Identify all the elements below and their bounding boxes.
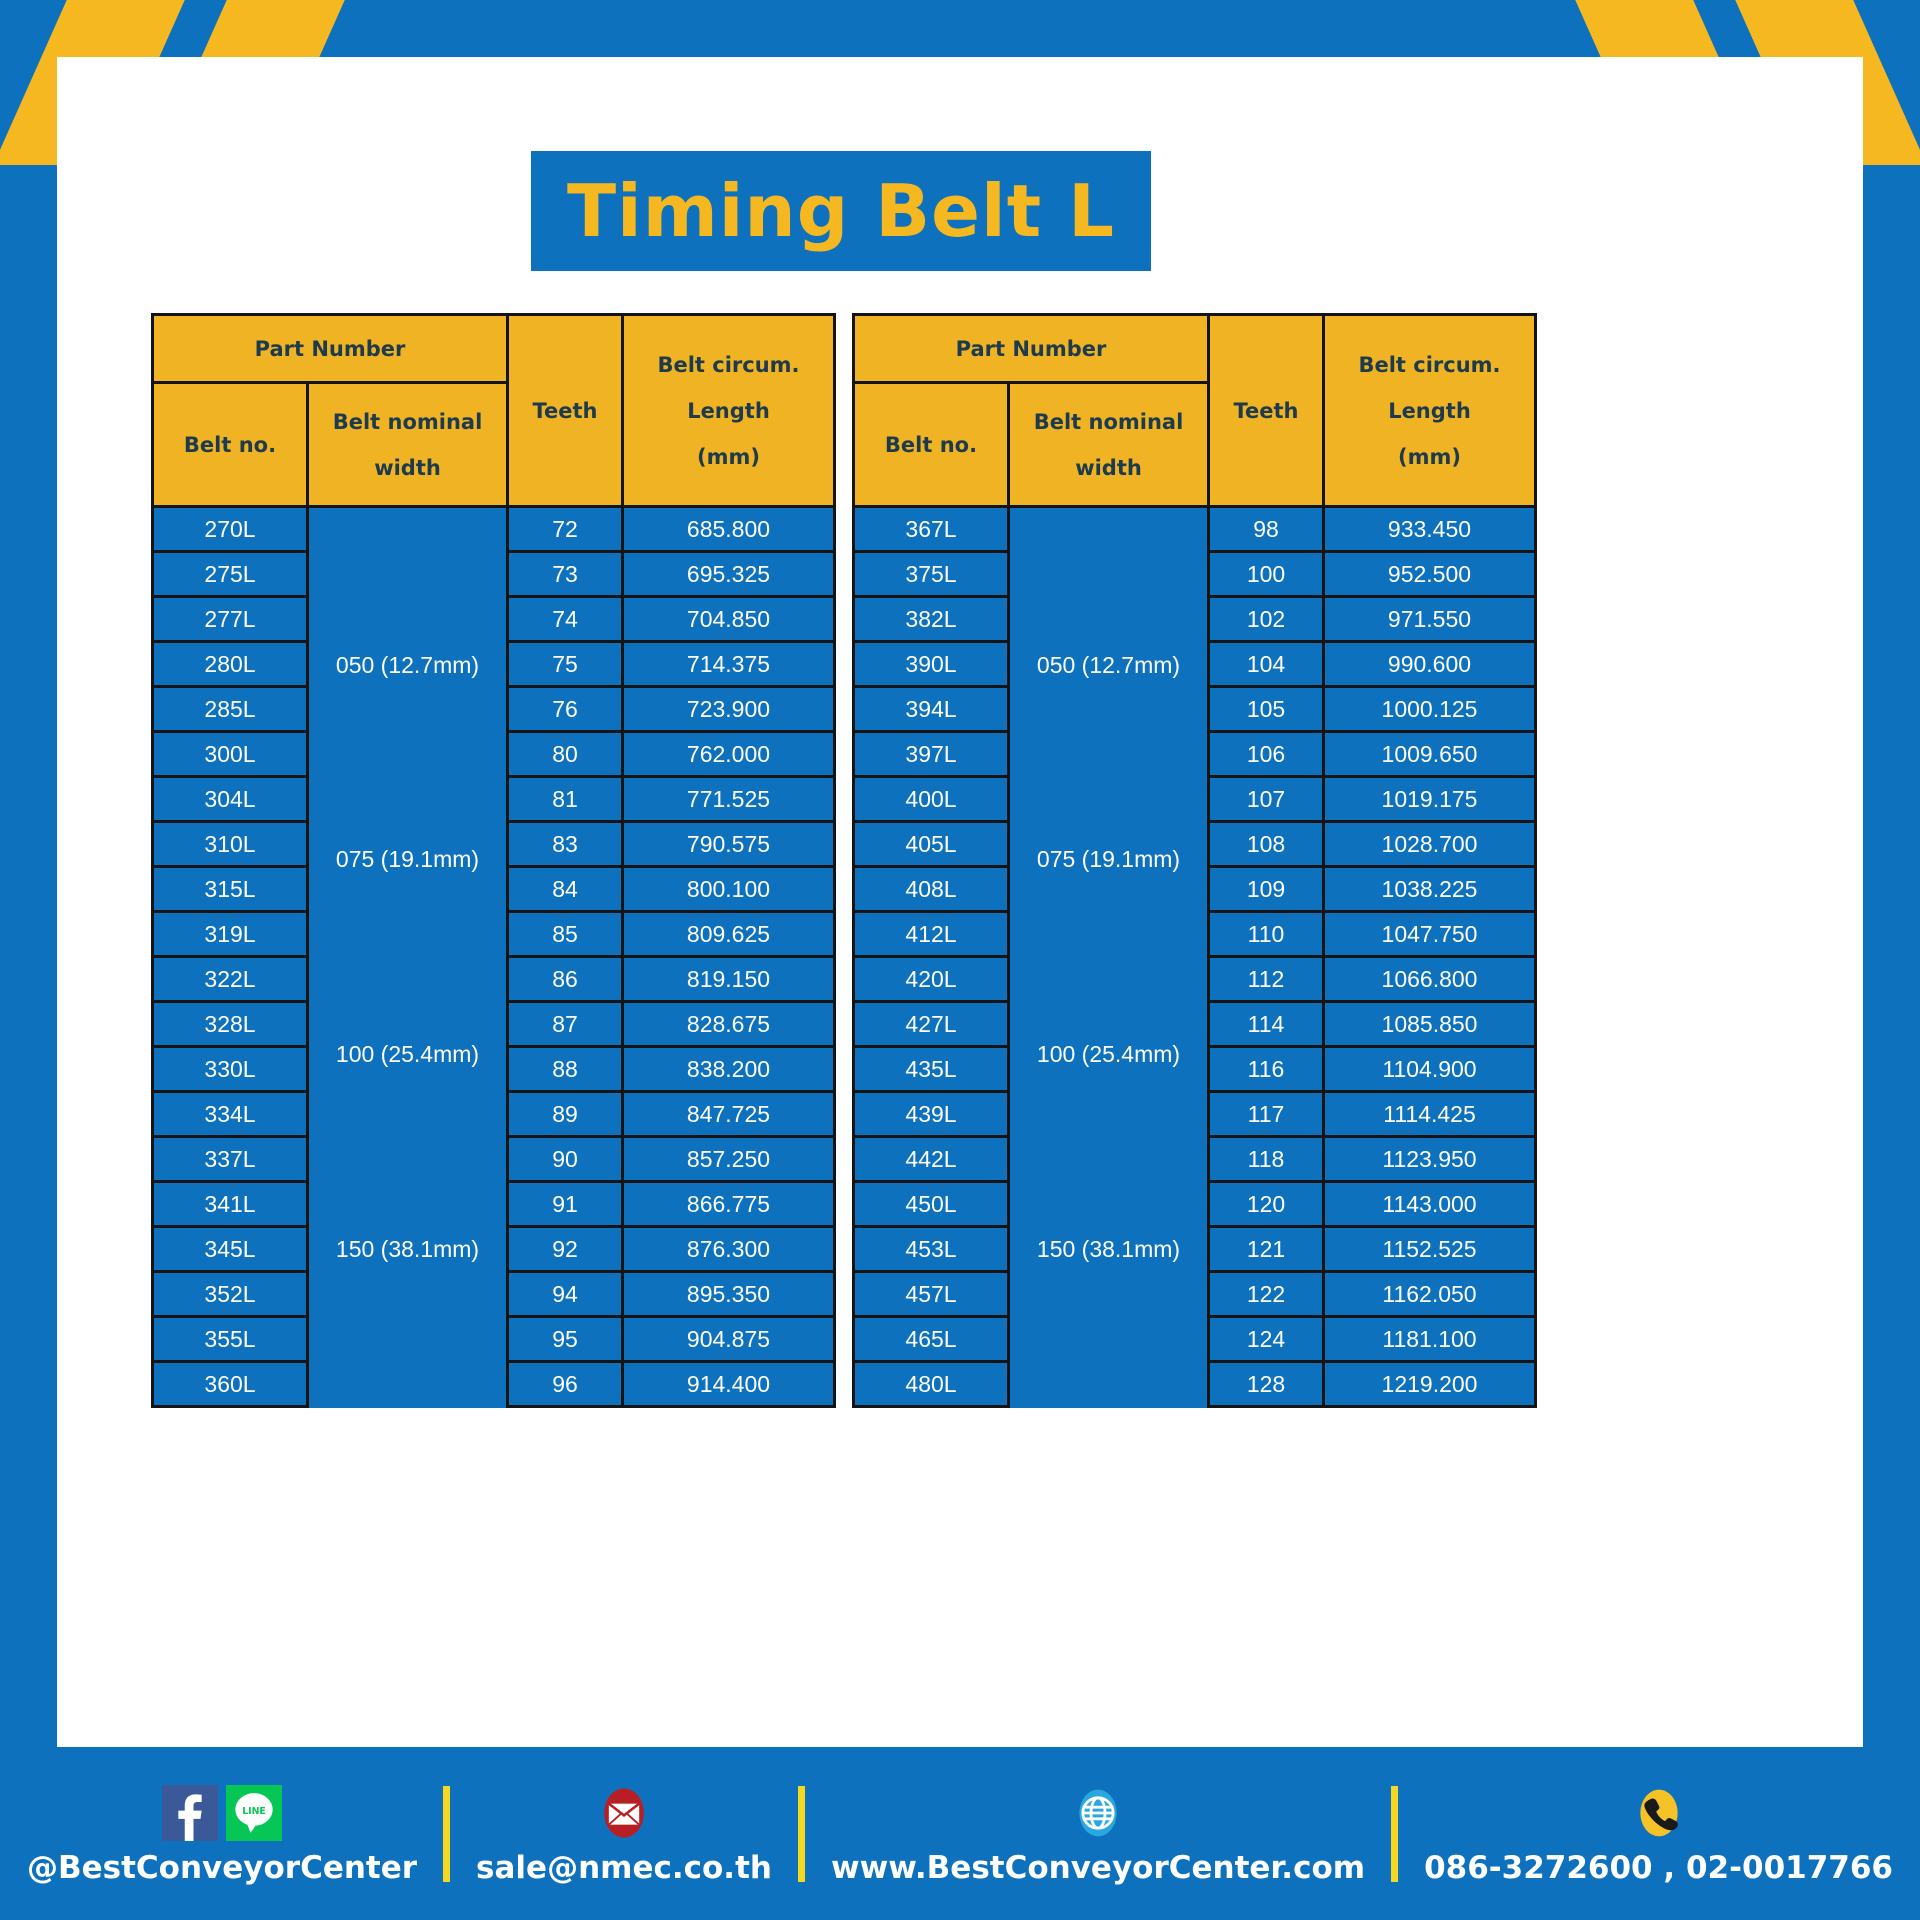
cell-length: 1028.700 <box>1324 822 1536 867</box>
cell-teeth: 76 <box>508 687 623 732</box>
cell-teeth: 96 <box>508 1362 623 1407</box>
header-belt-no-right: Belt no. <box>854 383 1009 507</box>
cell-length: 904.875 <box>623 1317 835 1362</box>
header-belt-circum-line2-left: Length <box>626 399 831 423</box>
cell-belt-no: 435L <box>854 1047 1009 1092</box>
cell-length: 1181.100 <box>1324 1317 1536 1362</box>
cell-belt-no: 412L <box>854 912 1009 957</box>
cell-belt-no: 405L <box>854 822 1009 867</box>
cell-length: 771.525 <box>623 777 835 822</box>
cell-belt-no: 341L <box>153 1182 308 1227</box>
cell-teeth: 102 <box>1209 597 1324 642</box>
cell-belt-no: 300L <box>153 732 308 777</box>
cell-length: 1152.525 <box>1324 1227 1536 1272</box>
header-width-left: width <box>311 456 504 480</box>
table-row: 367L050 (12.7mm)075 (19.1mm)100 (25.4mm)… <box>854 507 1536 552</box>
phone-icon[interactable] <box>1631 1785 1687 1841</box>
header-belt-circum-line3-left: (mm) <box>626 445 831 469</box>
width-option-3: 150 (38.1mm) <box>1037 1238 1180 1261</box>
header-belt-nominal-left: Belt nominal <box>333 410 483 434</box>
cell-length: 838.200 <box>623 1047 835 1092</box>
cell-length: 819.150 <box>623 957 835 1002</box>
cell-belt-no: 319L <box>153 912 308 957</box>
cell-length: 1009.650 <box>1324 732 1536 777</box>
cell-length: 1085.850 <box>1324 1002 1536 1047</box>
cell-length: 1019.175 <box>1324 777 1536 822</box>
cell-length: 952.500 <box>1324 552 1536 597</box>
belt-table-left: Part Number Teeth Belt circum. Length (m… <box>151 313 836 1408</box>
cell-belt-no: 450L <box>854 1182 1009 1227</box>
cell-length: 714.375 <box>623 642 835 687</box>
cell-teeth: 108 <box>1209 822 1324 867</box>
cell-belt-no: 310L <box>153 822 308 867</box>
cell-belt-no: 277L <box>153 597 308 642</box>
table-row: 270L050 (12.7mm)075 (19.1mm)100 (25.4mm)… <box>153 507 835 552</box>
width-option-3: 150 (38.1mm) <box>336 1238 479 1261</box>
footer-social-icons: LINE <box>162 1782 282 1844</box>
content-card: Timing Belt L Part Number Teeth Belt cir… <box>57 57 1863 1747</box>
cell-teeth: 91 <box>508 1182 623 1227</box>
header-belt-circum-right: Belt circum. Length (mm) <box>1324 315 1536 507</box>
facebook-icon[interactable] <box>162 1785 218 1841</box>
footer-divider-2 <box>798 1786 805 1882</box>
cell-length: 866.775 <box>623 1182 835 1227</box>
globe-icon[interactable] <box>1070 1785 1126 1841</box>
cell-belt-no: 285L <box>153 687 308 732</box>
cell-belt-no: 465L <box>854 1317 1009 1362</box>
header-belt-circum-line1-left: Belt circum. <box>657 353 799 377</box>
header-part-number-right: Part Number <box>854 315 1209 383</box>
cell-teeth: 87 <box>508 1002 623 1047</box>
cell-length: 790.575 <box>623 822 835 867</box>
table-body-left: 270L050 (12.7mm)075 (19.1mm)100 (25.4mm)… <box>153 507 835 1407</box>
footer-email-icons <box>596 1782 652 1844</box>
footer-divider-1 <box>443 1786 450 1882</box>
footer-email[interactable]: sale@nmec.co.th <box>450 1782 798 1886</box>
cell-length: 914.400 <box>623 1362 835 1407</box>
width-option-2: 100 (25.4mm) <box>336 1043 479 1066</box>
cell-length: 685.800 <box>623 507 835 552</box>
cell-belt-no: 390L <box>854 642 1009 687</box>
page-title-text: Timing Belt L <box>567 175 1115 247</box>
cell-belt-no: 352L <box>153 1272 308 1317</box>
cell-teeth: 121 <box>1209 1227 1324 1272</box>
cell-teeth: 81 <box>508 777 623 822</box>
footer-website[interactable]: www.BestConveyorCenter.com <box>805 1782 1391 1886</box>
header-belt-nominal-width-right: Belt nominal width <box>1009 383 1209 507</box>
cell-teeth: 98 <box>1209 507 1324 552</box>
cell-length: 933.450 <box>1324 507 1536 552</box>
cell-length: 1162.050 <box>1324 1272 1536 1317</box>
cell-length: 1123.950 <box>1324 1137 1536 1182</box>
width-option-0: 050 (12.7mm) <box>336 654 479 677</box>
cell-belt-no: 375L <box>854 552 1009 597</box>
tables-container: Part Number Teeth Belt circum. Length (m… <box>151 313 1531 1408</box>
cell-belt-no: 337L <box>153 1137 308 1182</box>
cell-length: 895.350 <box>623 1272 835 1317</box>
table-head-right: Part Number Teeth Belt circum. Length (m… <box>854 315 1536 507</box>
cell-belt-no: 400L <box>854 777 1009 822</box>
poster-root: Timing Belt L Part Number Teeth Belt cir… <box>0 0 1920 1920</box>
cell-teeth: 89 <box>508 1092 623 1137</box>
header-belt-circum-line3-right: (mm) <box>1327 445 1532 469</box>
header-width-right: width <box>1012 456 1205 480</box>
cell-teeth: 104 <box>1209 642 1324 687</box>
cell-teeth: 92 <box>508 1227 623 1272</box>
cell-teeth: 128 <box>1209 1362 1324 1407</box>
cell-belt-no: 345L <box>153 1227 308 1272</box>
cell-length: 1038.225 <box>1324 867 1536 912</box>
cell-belt-no: 280L <box>153 642 308 687</box>
footer-website-icons <box>1070 1782 1126 1844</box>
cell-teeth: 90 <box>508 1137 623 1182</box>
cell-belt-nominal-width: 050 (12.7mm)075 (19.1mm)100 (25.4mm)150 … <box>308 507 508 1407</box>
width-option-1: 075 (19.1mm) <box>1037 848 1180 871</box>
cell-teeth: 74 <box>508 597 623 642</box>
cell-length: 1000.125 <box>1324 687 1536 732</box>
email-icon[interactable] <box>596 1785 652 1841</box>
cell-teeth: 105 <box>1209 687 1324 732</box>
cell-teeth: 83 <box>508 822 623 867</box>
footer-phone-label: 086-3272600 , 02-0017766 <box>1424 1850 1893 1886</box>
width-option-1: 075 (19.1mm) <box>336 848 479 871</box>
cell-belt-no: 394L <box>854 687 1009 732</box>
cell-belt-no: 328L <box>153 1002 308 1047</box>
footer-email-label: sale@nmec.co.th <box>476 1850 772 1886</box>
width-option-2: 100 (25.4mm) <box>1037 1043 1180 1066</box>
cell-belt-no: 330L <box>153 1047 308 1092</box>
cell-length: 800.100 <box>623 867 835 912</box>
cell-belt-no: 334L <box>153 1092 308 1137</box>
footer-social-label: @BestConveyorCenter <box>27 1850 417 1886</box>
cell-length: 847.725 <box>623 1092 835 1137</box>
width-option-0: 050 (12.7mm) <box>1037 654 1180 677</box>
cell-belt-no: 439L <box>854 1092 1009 1137</box>
cell-length: 1047.750 <box>1324 912 1536 957</box>
cell-teeth: 86 <box>508 957 623 1002</box>
header-teeth-right: Teeth <box>1209 315 1324 507</box>
cell-teeth: 122 <box>1209 1272 1324 1317</box>
header-part-number-left: Part Number <box>153 315 508 383</box>
cell-belt-no: 457L <box>854 1272 1009 1317</box>
cell-teeth: 114 <box>1209 1002 1324 1047</box>
header-teeth-left: Teeth <box>508 315 623 507</box>
header-belt-circum-left: Belt circum. Length (mm) <box>623 315 835 507</box>
cell-length: 723.900 <box>623 687 835 732</box>
cell-belt-no: 382L <box>854 597 1009 642</box>
cell-belt-no: 427L <box>854 1002 1009 1047</box>
cell-belt-no: 304L <box>153 777 308 822</box>
cell-length: 1143.000 <box>1324 1182 1536 1227</box>
belt-table-right: Part Number Teeth Belt circum. Length (m… <box>852 313 1537 1408</box>
cell-belt-no: 275L <box>153 552 308 597</box>
cell-length: 762.000 <box>623 732 835 777</box>
header-belt-circum-line1-right: Belt circum. <box>1358 353 1500 377</box>
cell-teeth: 72 <box>508 507 623 552</box>
cell-belt-no: 322L <box>153 957 308 1002</box>
cell-teeth: 116 <box>1209 1047 1324 1092</box>
table-head-left: Part Number Teeth Belt circum. Length (m… <box>153 315 835 507</box>
header-belt-nominal-right: Belt nominal <box>1034 410 1184 434</box>
cell-teeth: 75 <box>508 642 623 687</box>
footer-phone-icons <box>1631 1782 1687 1844</box>
cell-belt-no: 420L <box>854 957 1009 1002</box>
cell-length: 876.300 <box>623 1227 835 1272</box>
cell-belt-no: 355L <box>153 1317 308 1362</box>
cell-belt-no: 315L <box>153 867 308 912</box>
cell-belt-no: 480L <box>854 1362 1009 1407</box>
footer-phone[interactable]: 086-3272600 , 02-0017766 <box>1398 1782 1919 1886</box>
cell-teeth: 109 <box>1209 867 1324 912</box>
cell-length: 704.850 <box>623 597 835 642</box>
cell-length: 990.600 <box>1324 642 1536 687</box>
cell-teeth: 94 <box>508 1272 623 1317</box>
cell-length: 809.625 <box>623 912 835 957</box>
cell-teeth: 112 <box>1209 957 1324 1002</box>
cell-belt-no: 270L <box>153 507 308 552</box>
footer-website-label: www.BestConveyorCenter.com <box>831 1850 1365 1886</box>
header-belt-nominal-width-left: Belt nominal width <box>308 383 508 507</box>
cell-teeth: 88 <box>508 1047 623 1092</box>
cell-length: 971.550 <box>1324 597 1536 642</box>
footer-bar: LINE @BestConveyorCenter sale@nmec.co.th <box>0 1747 1920 1920</box>
cell-belt-nominal-width: 050 (12.7mm)075 (19.1mm)100 (25.4mm)150 … <box>1009 507 1209 1407</box>
cell-teeth: 95 <box>508 1317 623 1362</box>
cell-teeth: 84 <box>508 867 623 912</box>
cell-length: 695.325 <box>623 552 835 597</box>
cell-teeth: 80 <box>508 732 623 777</box>
table-body-right: 367L050 (12.7mm)075 (19.1mm)100 (25.4mm)… <box>854 507 1536 1407</box>
cell-teeth: 73 <box>508 552 623 597</box>
cell-belt-no: 360L <box>153 1362 308 1407</box>
page-title: Timing Belt L <box>531 151 1151 271</box>
cell-teeth: 124 <box>1209 1317 1324 1362</box>
cell-teeth: 120 <box>1209 1182 1324 1227</box>
cell-length: 857.250 <box>623 1137 835 1182</box>
line-icon[interactable]: LINE <box>226 1785 282 1841</box>
cell-teeth: 117 <box>1209 1092 1324 1137</box>
cell-belt-no: 397L <box>854 732 1009 777</box>
cell-length: 828.675 <box>623 1002 835 1047</box>
cell-teeth: 100 <box>1209 552 1324 597</box>
cell-length: 1219.200 <box>1324 1362 1536 1407</box>
footer-social[interactable]: LINE @BestConveyorCenter <box>1 1782 443 1886</box>
cell-belt-no: 367L <box>854 507 1009 552</box>
cell-belt-no: 442L <box>854 1137 1009 1182</box>
cell-teeth: 110 <box>1209 912 1324 957</box>
cell-belt-no: 453L <box>854 1227 1009 1272</box>
header-belt-circum-line2-right: Length <box>1327 399 1532 423</box>
cell-teeth: 85 <box>508 912 623 957</box>
cell-belt-no: 408L <box>854 867 1009 912</box>
svg-text:LINE: LINE <box>242 1806 266 1817</box>
cell-teeth: 106 <box>1209 732 1324 777</box>
footer-divider-3 <box>1391 1786 1398 1882</box>
cell-length: 1114.425 <box>1324 1092 1536 1137</box>
header-belt-no-left: Belt no. <box>153 383 308 507</box>
cell-teeth: 118 <box>1209 1137 1324 1182</box>
cell-length: 1066.800 <box>1324 957 1536 1002</box>
cell-length: 1104.900 <box>1324 1047 1536 1092</box>
cell-teeth: 107 <box>1209 777 1324 822</box>
